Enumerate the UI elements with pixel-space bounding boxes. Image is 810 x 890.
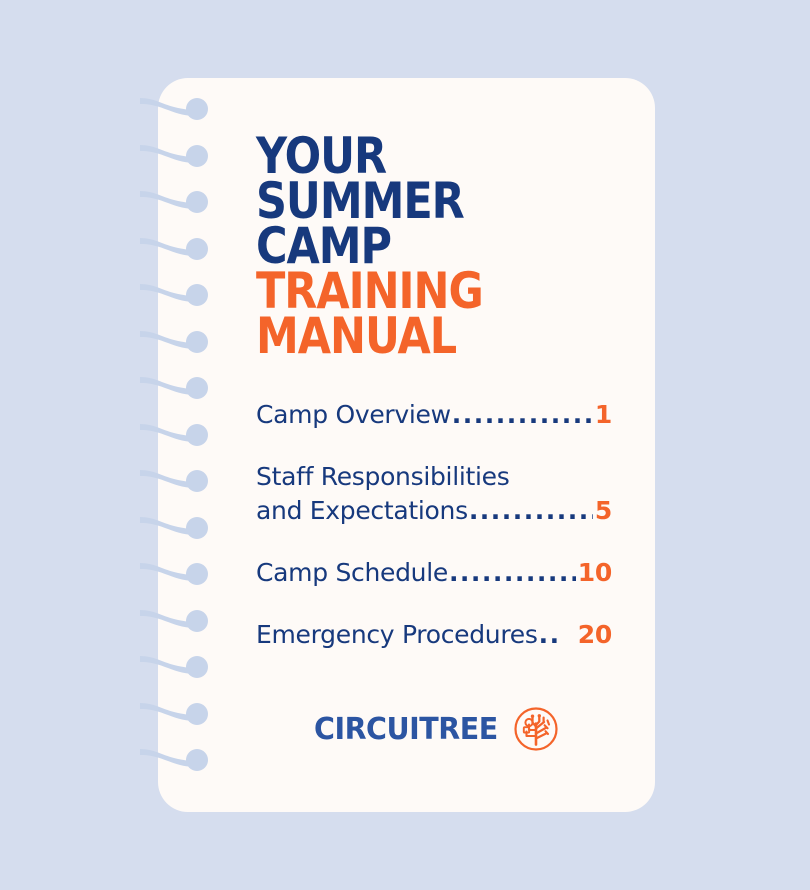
toc-label: Emergency Procedures [256, 618, 538, 652]
toc-leader: ............. [469, 494, 593, 528]
toc-page-number: 10 [577, 556, 612, 590]
poster-page: YOUR SUMMER CAMP TRAINING MANUAL Camp Ov… [0, 0, 810, 890]
table-of-contents: Camp Overview ................ 1 Staff R… [256, 398, 612, 652]
toc-label: and Expectations [256, 494, 468, 528]
card-content: YOUR SUMMER CAMP TRAINING MANUAL Camp Ov… [256, 78, 626, 812]
toc-page-number: 20 [577, 618, 612, 652]
toc-page-number: 1 [594, 398, 612, 432]
toc-page-number: 5 [594, 494, 612, 528]
toc-label-first-line: Staff Responsibilities [256, 460, 612, 494]
toc-entry-emergency-procedures[interactable]: Emergency Procedures .. 20 [256, 618, 612, 652]
toc-leader: ................ [452, 398, 593, 432]
title-line-5: MANUAL [256, 314, 574, 359]
toc-leader: .. [539, 618, 576, 652]
page-title: YOUR SUMMER CAMP TRAINING MANUAL [256, 134, 626, 359]
toc-label: Camp Schedule [256, 556, 448, 590]
toc-leader: ............... [449, 556, 576, 590]
toc-label: Camp Overview [256, 398, 451, 432]
circuit-tree-icon [513, 706, 559, 752]
circuitree-logo[interactable]: CIRCUITREE [314, 706, 559, 752]
logo-wordmark: CIRCUITREE [314, 712, 498, 747]
toc-entry-camp-overview[interactable]: Camp Overview ................ 1 [256, 398, 612, 432]
toc-entry-camp-schedule[interactable]: Camp Schedule ............... 10 [256, 556, 612, 590]
toc-entry-staff-responsibilities[interactable]: Staff Responsibilities and Expectations … [256, 460, 612, 528]
